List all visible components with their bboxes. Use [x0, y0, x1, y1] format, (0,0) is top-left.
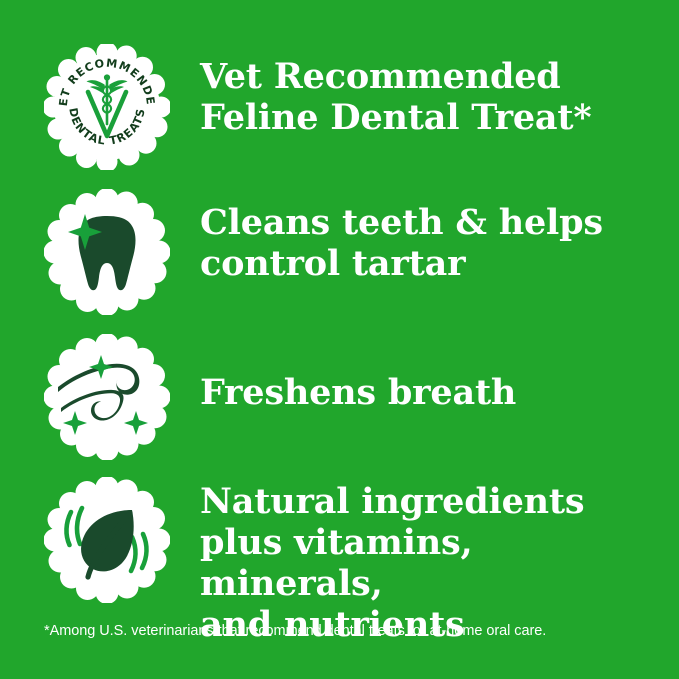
feature-item-cleans-teeth: Cleans teeth & helps control tartar — [44, 189, 664, 315]
fresh-breath-wind-icon — [44, 334, 170, 460]
sparkling-tooth-icon — [44, 189, 170, 315]
vet-recommended-seal-icon: VET RECOMMENDED DENTAL TREATS — [44, 44, 170, 170]
feature-heading: Vet Recommended Feline Dental Treat* — [200, 44, 664, 139]
feature-item-freshens-breath: Freshens breath — [44, 334, 664, 460]
leaf-nutrients-icon — [44, 477, 170, 603]
product-benefits-panel: VET RECOMMENDED DENTAL TREATS — [0, 0, 679, 679]
feature-heading: Cleans teeth & helps control tartar — [200, 189, 664, 285]
feature-heading: Natural ingredients plus vitamins, miner… — [200, 477, 664, 646]
feature-item-vet-recommended: VET RECOMMENDED DENTAL TREATS — [44, 44, 664, 170]
disclaimer-footnote: *Among U.S. veterinarians that recommend… — [44, 622, 654, 640]
feature-item-natural-ingredients: Natural ingredients plus vitamins, miner… — [44, 477, 664, 646]
feature-heading: Freshens breath — [200, 334, 664, 414]
